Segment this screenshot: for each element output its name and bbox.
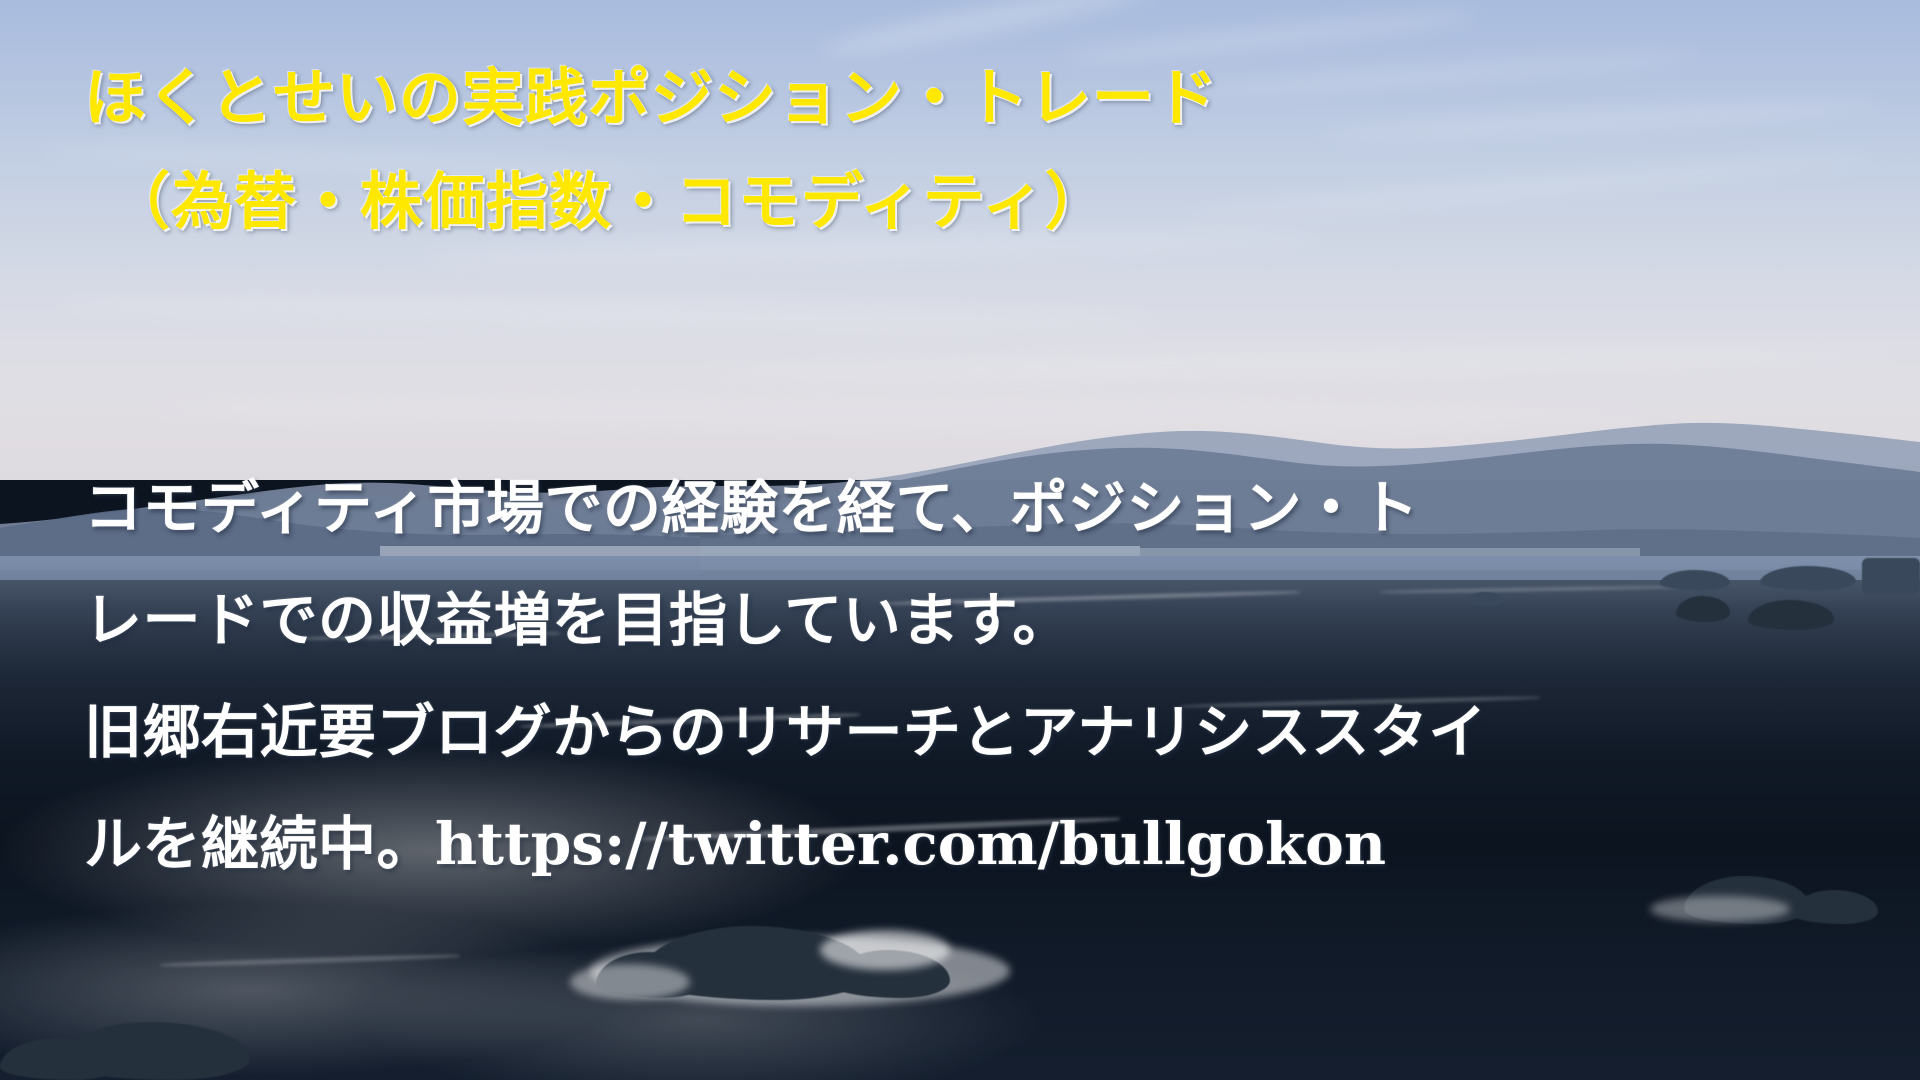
title-line-2: （為替・株価指数・コモディティ） bbox=[84, 150, 1384, 254]
body-line-4: ルを継続中。https://twitter.com/bullgokon bbox=[84, 788, 1444, 900]
title-line-1: ほくとせいの実践ポジション・トレード bbox=[84, 46, 1384, 150]
body-line-2: レードでの収益増を目指しています。 bbox=[84, 564, 1444, 676]
title-block: ほくとせいの実践ポジション・トレード （為替・株価指数・コモディティ） bbox=[84, 46, 1384, 254]
profile-banner: ほくとせいの実践ポジション・トレード （為替・株価指数・コモディティ） コモディ… bbox=[0, 0, 1920, 1080]
body-line-4-prefix: ルを継続中。 bbox=[84, 810, 435, 878]
body-line-1: コモディティ市場での経験を経て、ポジション・ト bbox=[84, 452, 1444, 564]
text-overlay: ほくとせいの実践ポジション・トレード （為替・株価指数・コモディティ） コモディ… bbox=[0, 0, 1920, 1080]
body-block: コモディティ市場での経験を経て、ポジション・ト レードでの収益増を目指しています… bbox=[84, 452, 1444, 900]
body-line-3: 旧郷右近要ブログからのリサーチとアナリシススタイ bbox=[84, 676, 1444, 788]
twitter-profile-url[interactable]: https://twitter.com/bullgokon bbox=[435, 810, 1386, 878]
